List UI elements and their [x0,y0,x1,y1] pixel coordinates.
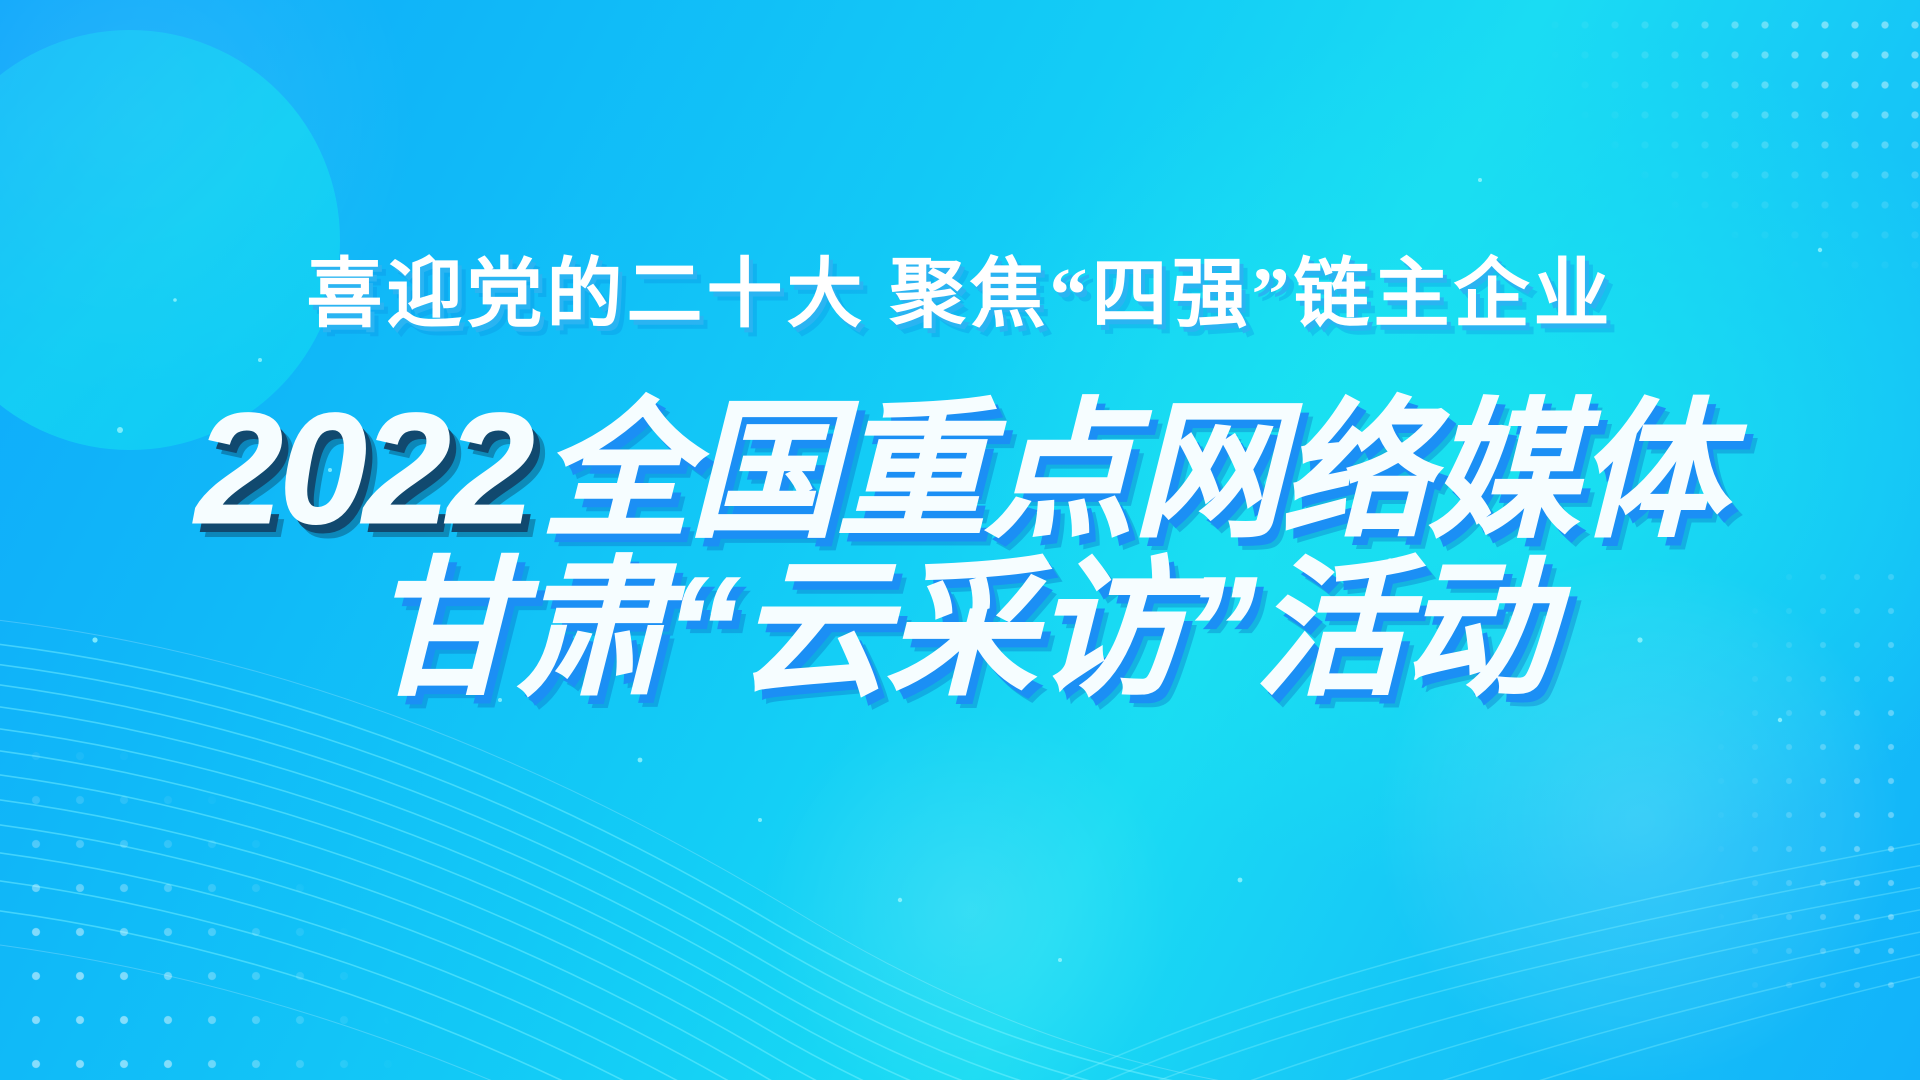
poster-kicker: 喜迎党的二十大 聚焦“四强”链主企业 [0,232,1920,342]
poster-title-line-2: 甘肃“云采访”活动 [0,508,1920,725]
poster-canvas: 喜迎党的二十大 聚焦“四强”链主企业 2022全国重点网络媒体 甘肃“云采访”活… [0,0,1920,1080]
poster-text-block: 喜迎党的二十大 聚焦“四强”链主企业 2022全国重点网络媒体 甘肃“云采访”活… [0,0,1920,1080]
